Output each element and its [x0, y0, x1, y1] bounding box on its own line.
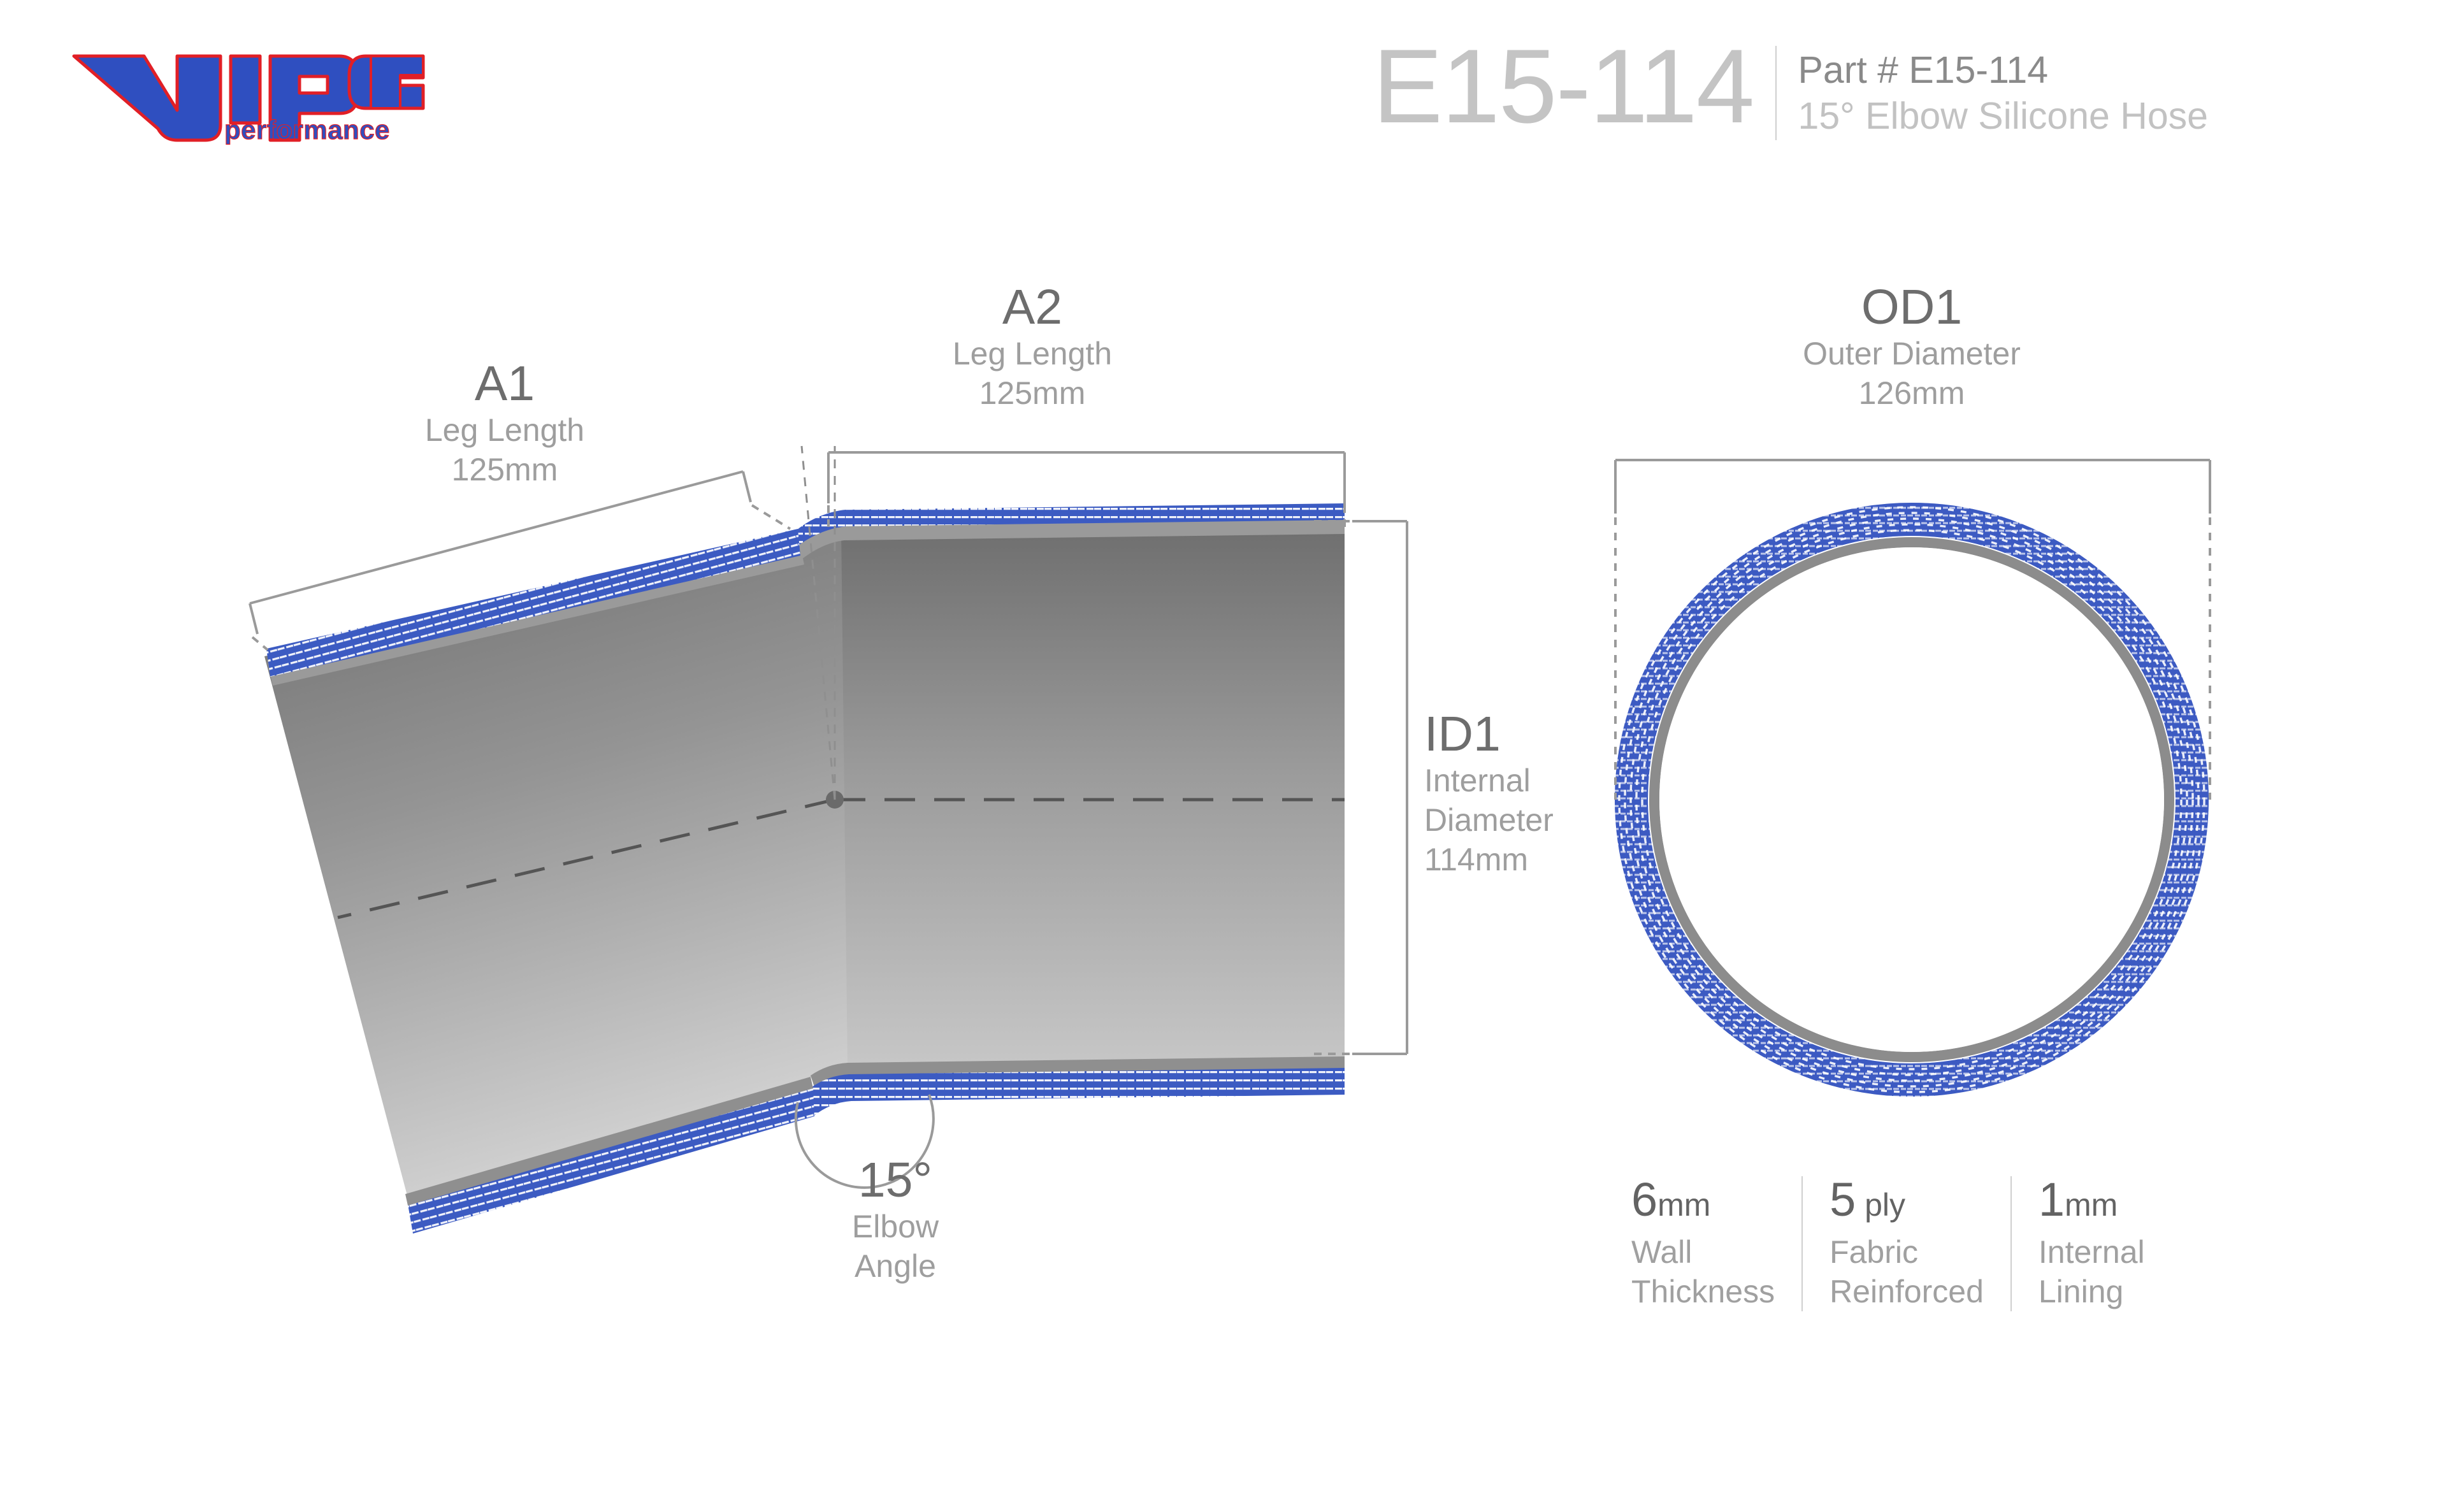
cross-section-ply-rings [1619, 507, 2204, 1092]
label-id1-name-line2: Diameter [1424, 800, 1654, 840]
hose-top-fabric-left [266, 529, 800, 677]
header-title-block: E15-114 Part # E15-114 15° Elbow Silicon… [1373, 38, 2208, 140]
centerline-left [338, 800, 835, 918]
label-od1-value: 126mm [1676, 373, 2147, 413]
logo-svg: performance [69, 50, 426, 145]
spec-fabric-ply-line1: Fabric [1830, 1232, 1984, 1272]
spec-fabric-ply-number: 5 [1830, 1173, 1856, 1226]
dimension-bracket-a1 [250, 472, 790, 650]
dimension-bracket-a2 [828, 452, 1345, 535]
label-a2-key: A2 [879, 280, 1185, 334]
spec-internal-lining-value: 1mm [2039, 1172, 2145, 1232]
spec-internal-lining-line1: Internal [2039, 1232, 2145, 1272]
label-a2-name: Leg Length [879, 334, 1185, 373]
spec-internal-lining-line2: Lining [2039, 1272, 2145, 1311]
spec-fabric-ply-unit: ply [1856, 1187, 1905, 1223]
header-divider [1775, 46, 1777, 140]
spec-internal-lining-number: 1 [2039, 1173, 2065, 1226]
spec-wall-thickness-line2: Thickness [1631, 1272, 1775, 1311]
spec-wall-thickness: 6mm Wall Thickness [1631, 1172, 1775, 1311]
label-elbow-angle: 15° Elbow Angle [781, 1153, 1010, 1286]
label-od1-name: Outer Diameter [1676, 334, 2147, 373]
product-description: 15° Elbow Silicone Hose [1798, 93, 2208, 139]
spec-internal-lining-unit: mm [2065, 1187, 2118, 1223]
header-subtitles: Part # E15-114 15° Elbow Silicone Hose [1798, 38, 2208, 139]
hose-bottom-lining-left [405, 1077, 813, 1206]
spec-fabric-ply-value: 5 ply [1830, 1172, 1984, 1232]
cross-section-outer-tint [1631, 519, 2192, 1080]
logo-wordmark-performance: performance [224, 115, 390, 145]
label-id1-key: ID1 [1424, 707, 1654, 761]
hose-cross-section [1619, 507, 2204, 1092]
hose-left-leg-body [264, 529, 848, 1198]
construction-line-angled [802, 446, 835, 800]
label-a2-value: 125mm [879, 373, 1185, 413]
label-od1-key: OD1 [1676, 280, 2147, 334]
spec-divider-2 [2010, 1176, 2012, 1311]
spec-summary-row: 6mm Wall Thickness 5 ply Fabric Reinforc… [1631, 1172, 2145, 1311]
spec-fabric-ply: 5 ply Fabric Reinforced [1830, 1172, 1984, 1311]
label-a1-key: A1 [390, 357, 619, 410]
spec-wall-thickness-line1: Wall [1631, 1232, 1775, 1272]
hose-top-lining-right [797, 517, 1345, 561]
cross-section-inner-lining [1654, 542, 2169, 1057]
cross-section-outer-fabric [1631, 519, 2192, 1080]
spec-wall-thickness-number: 6 [1631, 1173, 1657, 1226]
spec-wall-thickness-value: 6mm [1631, 1172, 1775, 1232]
hose-bottom-lining-right [811, 1056, 1345, 1087]
spec-internal-lining: 1mm Internal Lining [2039, 1172, 2145, 1311]
part-code-title: E15-114 [1373, 38, 1754, 134]
label-id1-value: 114mm [1424, 840, 1654, 879]
part-number-label: Part # E15-114 [1798, 47, 2208, 93]
label-a1-name: Leg Length [390, 410, 619, 450]
page-header: performance E15-114 Part # E15-114 15° E… [0, 0, 2447, 191]
label-a1: A1 Leg Length 125mm [390, 357, 619, 489]
cross-section-bore [1659, 547, 2164, 1052]
viper-performance-logo: performance [69, 50, 426, 145]
elbow-vertex-point [826, 791, 844, 809]
label-id1-name-line1: Internal [1424, 761, 1654, 800]
centerlines [338, 446, 1345, 918]
label-angle-name-line1: Elbow [781, 1207, 1010, 1246]
label-angle-name-line2: Angle [781, 1246, 1010, 1286]
dimension-bracket-od1 [1615, 460, 2210, 800]
hose-right-leg-body [790, 522, 1345, 1077]
label-od1: OD1 Outer Diameter 126mm [1676, 280, 2147, 413]
hose-top-fabric-right [797, 503, 1345, 547]
hose-bottom-fabric-left [408, 1087, 814, 1234]
label-angle-value: 15° [781, 1153, 1010, 1207]
spec-fabric-ply-line2: Reinforced [1830, 1272, 1984, 1311]
dimension-bracket-id1 [1313, 484, 1407, 1054]
spec-wall-thickness-unit: mm [1657, 1187, 1710, 1223]
hose-bottom-fabric-right [812, 1068, 1345, 1116]
hose-top-lining-left [268, 543, 804, 686]
label-a1-value: 125mm [390, 450, 619, 489]
label-a2: A2 Leg Length 125mm [879, 280, 1185, 413]
elbow-hose-body [264, 503, 1345, 1234]
label-id1: ID1 Internal Diameter 114mm [1424, 707, 1654, 879]
spec-divider-1 [1801, 1176, 1803, 1311]
